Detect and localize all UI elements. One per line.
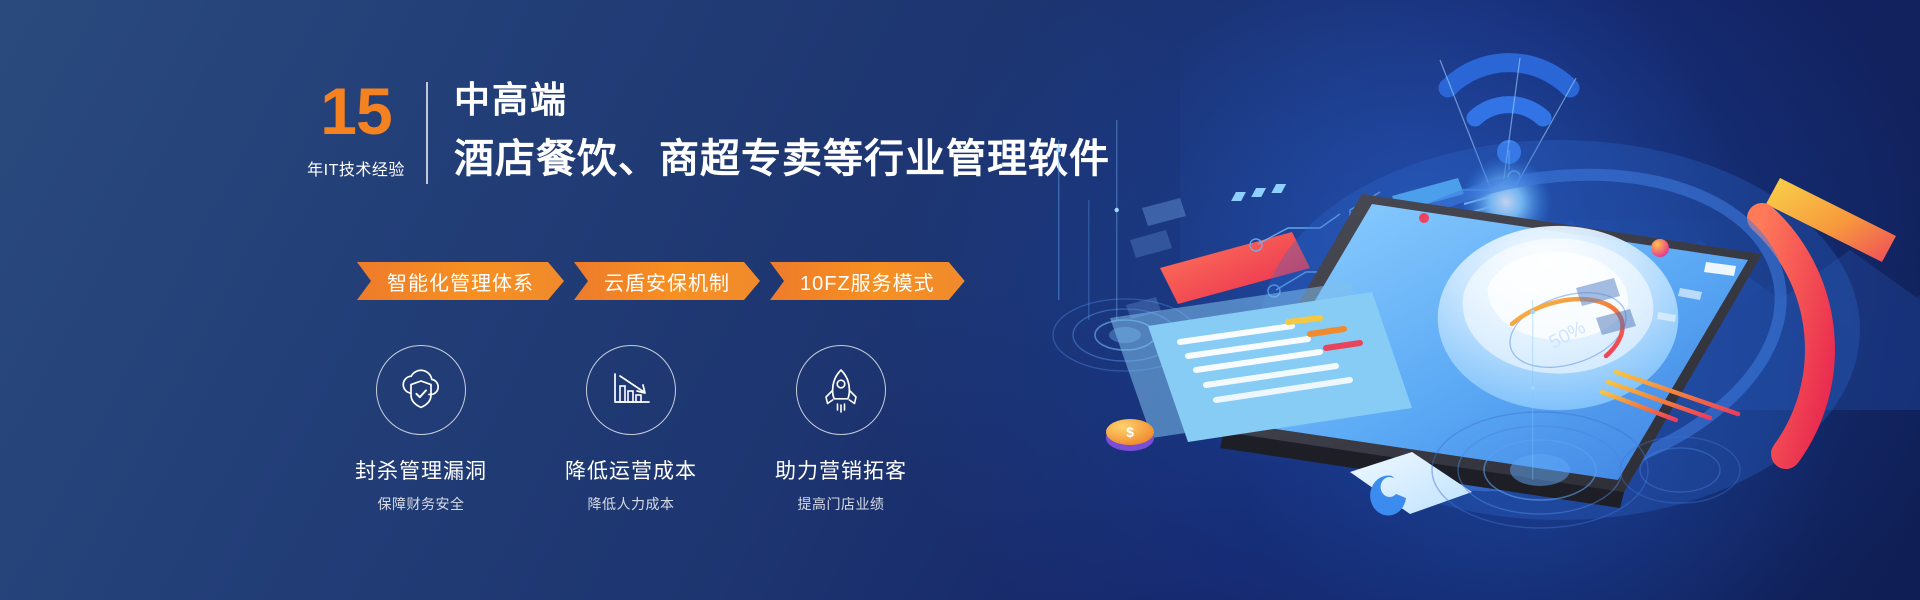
left-content: 15 年IT技术经验 中高端 酒店餐饮、商超专卖等行业管理软件 智能化管理体系 … bbox=[0, 0, 1060, 600]
feature-item-security[interactable]: 封杀管理漏洞 保障财务安全 bbox=[347, 345, 495, 514]
light-beams bbox=[1056, 120, 1119, 320]
rocket-icon bbox=[818, 366, 864, 414]
tag-list: 智能化管理体系 云盾安保机制 10FZ服务模式 bbox=[357, 262, 965, 300]
experience-label: 年IT技术经验 bbox=[300, 156, 412, 180]
svg-text:$: $ bbox=[1126, 424, 1134, 440]
illustration-svg: $ 50% bbox=[1020, 0, 1920, 600]
headline-row: 15 年IT技术经验 中高端 酒店餐饮、商超专卖等行业管理软件 bbox=[300, 78, 1110, 184]
title-main: 酒店餐饮、商超专卖等行业管理软件 bbox=[454, 134, 1110, 184]
declining-bar-chart-icon bbox=[607, 368, 655, 412]
tag-label: 10FZ服务模式 bbox=[800, 267, 935, 296]
feature-icon-circle bbox=[586, 345, 676, 435]
tag-label: 云盾安保机制 bbox=[604, 267, 730, 296]
feature-icon-circle bbox=[796, 345, 886, 435]
tag-item-0[interactable]: 智能化管理体系 bbox=[357, 262, 564, 300]
tag-item-1[interactable]: 云盾安保机制 bbox=[574, 262, 760, 300]
cloud-shield-icon bbox=[396, 367, 446, 413]
experience-number: 15 bbox=[300, 78, 412, 144]
experience-block: 15 年IT技术经验 bbox=[300, 78, 426, 180]
title-eyebrow: 中高端 bbox=[454, 78, 1110, 122]
feature-subtitle: 提高门店业绩 bbox=[767, 494, 915, 514]
hero-illustration: $ 50% bbox=[1020, 0, 1920, 600]
promo-banner: 15 年IT技术经验 中高端 酒店餐饮、商超专卖等行业管理软件 智能化管理体系 … bbox=[0, 0, 1920, 600]
feature-title: 助力营销拓客 bbox=[767, 455, 915, 485]
feature-icon-circle bbox=[376, 345, 466, 435]
feature-subtitle: 保障财务安全 bbox=[347, 494, 495, 514]
feature-list: 封杀管理漏洞 保障财务安全 降低运营成本 降低人力成本 bbox=[347, 345, 915, 514]
feature-item-cost[interactable]: 降低运营成本 降低人力成本 bbox=[557, 345, 705, 514]
feature-title: 封杀管理漏洞 bbox=[347, 455, 495, 485]
feature-subtitle: 降低人力成本 bbox=[557, 494, 705, 514]
accent-dot bbox=[1419, 213, 1429, 223]
feature-item-marketing[interactable]: 助力营销拓客 提高门店业绩 bbox=[767, 345, 915, 514]
feature-title: 降低运营成本 bbox=[557, 455, 705, 485]
coin-icon: $ bbox=[1106, 419, 1154, 451]
title-block: 中高端 酒店餐饮、商超专卖等行业管理软件 bbox=[428, 78, 1110, 184]
tag-label: 智能化管理体系 bbox=[387, 267, 534, 296]
tag-item-2[interactable]: 10FZ服务模式 bbox=[770, 262, 965, 300]
